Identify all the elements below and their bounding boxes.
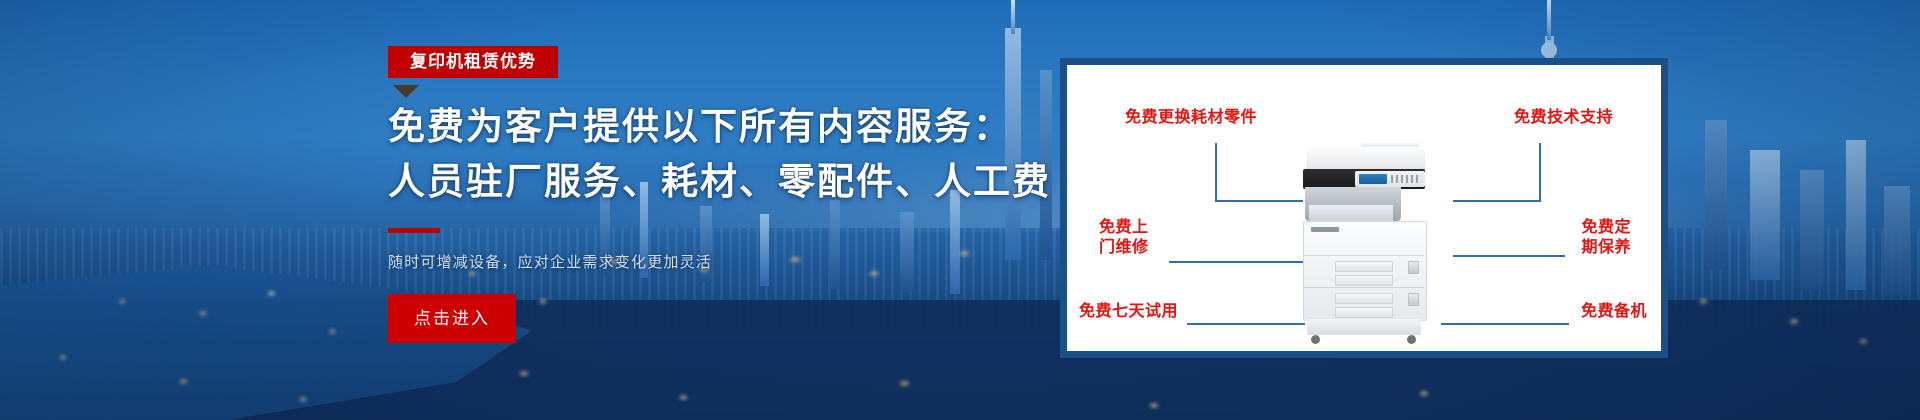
enter-button[interactable]: 点击进入	[388, 294, 516, 343]
services-panel: 免费更换耗材零件 免费技术支持 免费上 门维修 免费定 期保养 免费七天试用 免…	[1060, 58, 1668, 358]
leader-line-consumables-v	[1215, 143, 1217, 201]
subtitle: 随时可增减设备，应对企业需求变化更加灵活	[388, 251, 1028, 272]
label-onsite-repair: 免费上 门维修	[1099, 217, 1149, 258]
leader-line-periodic-maintenance	[1453, 255, 1565, 257]
promo-badge: 复印机租赁优势	[388, 46, 558, 78]
label-backup-machine: 免费备机	[1581, 301, 1647, 321]
red-divider-rule	[388, 228, 440, 233]
banner-stage: 复印机租赁优势 免费为客户提供以下所有内容服务： 人员驻厂服务、耗材、零配件、人…	[0, 0, 1920, 420]
left-content-block: 复印机租赁优势 免费为客户提供以下所有内容服务： 人员驻厂服务、耗材、零配件、人…	[388, 46, 1028, 343]
leader-line-seven-day-trial	[1187, 323, 1305, 325]
leader-line-onsite-repair	[1169, 261, 1303, 263]
leader-line-backup-machine	[1441, 323, 1569, 325]
headline-line-1: 免费为客户提供以下所有内容服务：	[388, 106, 1012, 147]
headline: 免费为客户提供以下所有内容服务： 人员驻厂服务、耗材、零配件、人工费	[388, 100, 1028, 210]
label-seven-day-trial: 免费七天试用	[1079, 301, 1178, 321]
label-tech-support: 免费技术支持	[1514, 107, 1613, 127]
label-consumables: 免费更换耗材零件	[1125, 107, 1257, 127]
leader-line-consumables-h	[1215, 200, 1303, 202]
label-periodic-maintenance: 免费定 期保养	[1581, 217, 1631, 258]
badge-pointer-icon	[393, 85, 419, 98]
leader-line-tech-support-h	[1453, 200, 1541, 202]
headline-line-2: 人员驻厂服务、耗材、零配件、人工费	[388, 155, 1028, 210]
leader-line-tech-support-v	[1539, 143, 1541, 201]
copier-machine-icon	[1299, 147, 1429, 347]
